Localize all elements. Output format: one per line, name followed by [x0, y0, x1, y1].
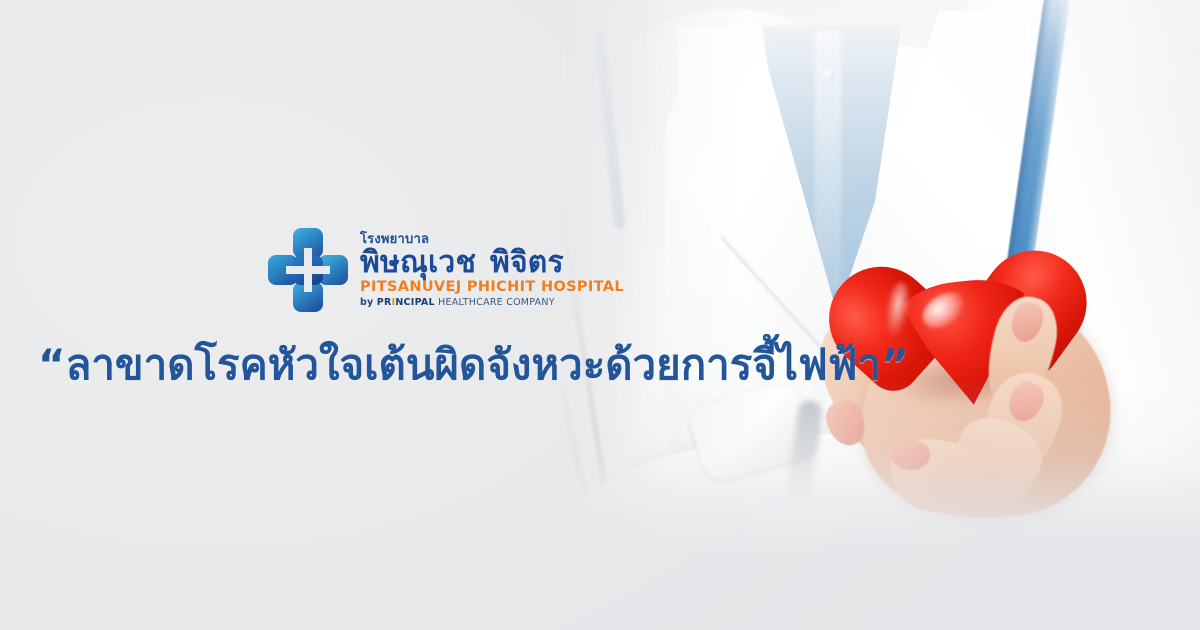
shirt-button — [822, 68, 835, 81]
logo-byline: by PRINCIPAL HEALTHCARE COMPANY — [360, 298, 624, 308]
logo-thai-name: พิษณุเวชพิจิตร — [360, 247, 624, 279]
logo-thai-name-part2: พิจิตร — [490, 245, 564, 280]
doctor-holding-heart-photo — [560, 0, 1200, 630]
logo-english-name: PITSANUVEJ PHICHIT HOSPITAL — [360, 280, 624, 295]
logo-byline-brand-pre: PR — [377, 297, 392, 308]
logo-white-cross-cutout — [293, 255, 323, 285]
logo-byline-by: by — [360, 297, 374, 308]
logo-byline-brand-post: NCIPAL — [395, 297, 434, 308]
logo-wordmark: โรงพยาบาล พิษณุเวชพิจิตร PITSANUVEJ PHIC… — [360, 233, 624, 308]
logo-byline-rest: HEALTHCARE COMPANY — [438, 297, 555, 308]
hospital-cross-logo-mark — [268, 228, 348, 312]
headline-text: “ลาขาดโรคหัวใจเต้นผิดจังหวะด้วยการจี้ไฟฟ… — [38, 332, 828, 398]
hospital-promo-banner: โรงพยาบาล พิษณุเวชพิจิตร PITSANUVEJ PHIC… — [0, 0, 1200, 630]
logo-thai-name-part1: พิษณุเวช — [360, 245, 476, 280]
hospital-logo[interactable]: โรงพยาบาล พิษณุเวชพิจิตร PITSANUVEJ PHIC… — [268, 228, 624, 312]
